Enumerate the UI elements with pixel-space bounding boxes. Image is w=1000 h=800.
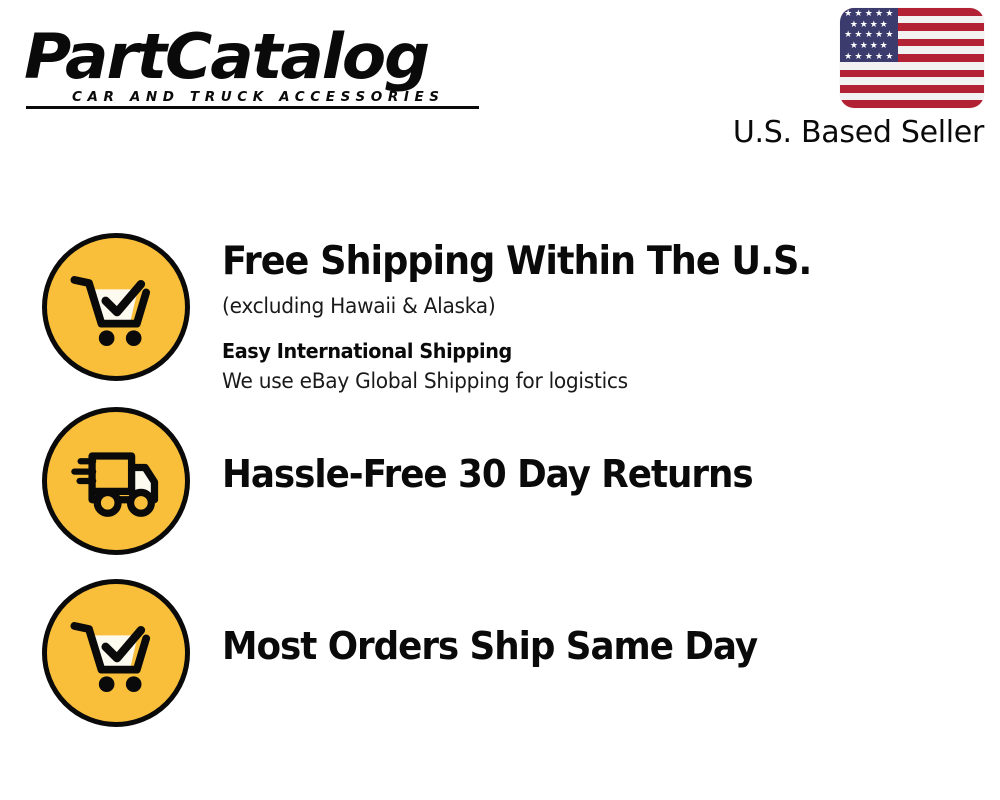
delivery-truck-icon xyxy=(42,407,190,555)
feature-subheading: Easy International Shipping xyxy=(222,338,969,364)
feature-heading: Most Orders Ship Same Day xyxy=(222,623,953,669)
logo-underline-rule xyxy=(26,106,479,109)
feature-row: Hassle-Free 30 Day Returns xyxy=(0,407,1000,555)
seller-info-banner: { "brand": { "logo_word": "PartCatalog",… xyxy=(0,0,1000,800)
feature-text-block: Hassle-Free 30 Day Returns xyxy=(222,407,1000,497)
feature-note: (excluding Hawaii & Alaska) xyxy=(222,292,969,320)
brand-name: PartCatalog xyxy=(24,26,513,88)
flag-canton: ★★★★★ ★★★★ ★★★★★ ★★★★ ★★★★★ xyxy=(840,8,898,62)
feature-heading: Free Shipping Within The U.S. xyxy=(222,239,953,285)
us-based-seller-label: U.S. Based Seller xyxy=(714,115,984,151)
brand-logo: PartCatalog CAR AND TRUCK ACCESSORIES xyxy=(24,26,494,105)
banner-header: PartCatalog CAR AND TRUCK ACCESSORIES ★★… xyxy=(0,0,1000,170)
feature-text-block: Most Orders Ship Same Day xyxy=(222,579,1000,669)
feature-text-block: Free Shipping Within The U.S. (excluding… xyxy=(222,233,1000,395)
feature-subtext: We use eBay Global Shipping for logistic… xyxy=(222,367,969,395)
us-based-seller-block: ★★★★★ ★★★★ ★★★★★ ★★★★ ★★★★★ U.S. Based S… xyxy=(714,8,984,151)
feature-row: Free Shipping Within The U.S. (excluding… xyxy=(0,233,1000,395)
feature-heading: Hassle-Free 30 Day Returns xyxy=(222,451,953,497)
shopping-cart-check-icon xyxy=(42,579,190,727)
feature-row: Most Orders Ship Same Day xyxy=(0,579,1000,727)
shopping-cart-check-icon xyxy=(42,233,190,381)
us-flag-icon: ★★★★★ ★★★★ ★★★★★ ★★★★ ★★★★★ xyxy=(840,8,984,108)
